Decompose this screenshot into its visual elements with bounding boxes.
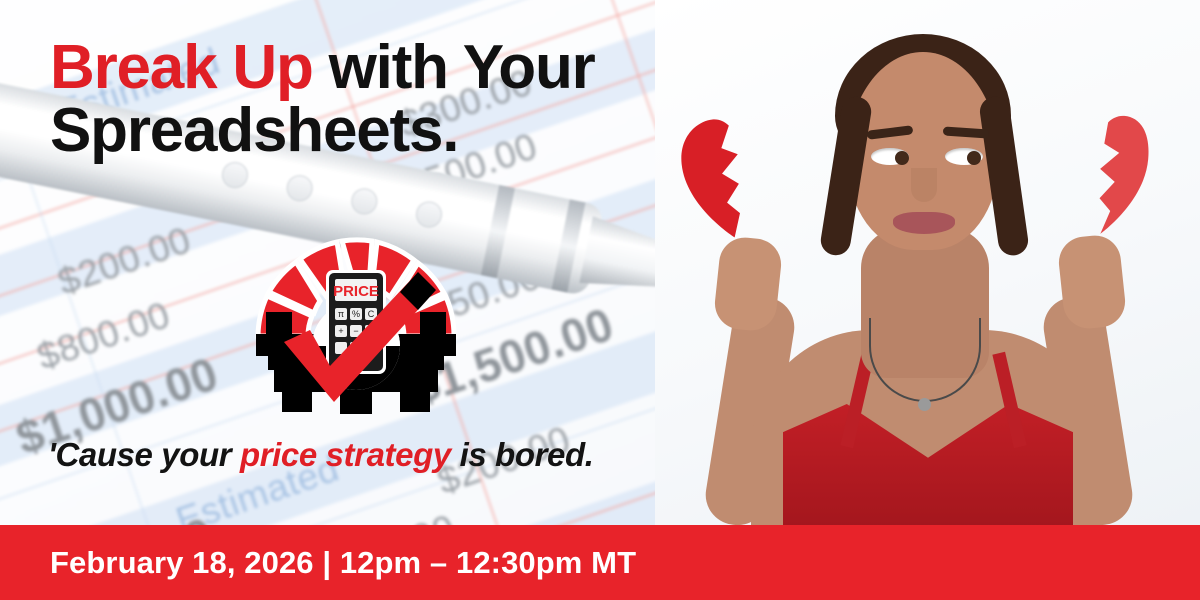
price-strategy-gear-logo: PRICE π % C + − × bbox=[222, 216, 490, 416]
event-date-bar: February 18, 2026 | 12pm – 12:30pm MT bbox=[0, 525, 1200, 600]
broken-heart-right-half bbox=[1047, 100, 1156, 240]
headline-accent: Break Up bbox=[50, 33, 313, 102]
webinar-promo-banner: Estimated Actual Estimated Actual $850.0… bbox=[0, 0, 1200, 600]
headline-line2: Spreadsheets. bbox=[50, 96, 458, 165]
svg-text:−: − bbox=[353, 326, 358, 336]
page-title: Break Up with Your Spreadsheets. bbox=[50, 36, 750, 162]
svg-text:C: C bbox=[368, 309, 375, 319]
tagline-prefix: 'Cause your bbox=[48, 436, 240, 473]
tagline-suffix: is bored. bbox=[451, 436, 594, 473]
svg-text:%: % bbox=[352, 309, 360, 319]
tagline: 'Cause your price strategy is bored. bbox=[48, 436, 594, 474]
tagline-accent: price strategy bbox=[240, 436, 451, 473]
svg-text:π: π bbox=[338, 309, 344, 319]
headline-rest: with Your bbox=[313, 33, 595, 102]
event-date-time: February 18, 2026 | 12pm – 12:30pm MT bbox=[50, 545, 636, 581]
svg-text:+: + bbox=[338, 326, 343, 336]
calculator-display: PRICE bbox=[333, 283, 379, 300]
